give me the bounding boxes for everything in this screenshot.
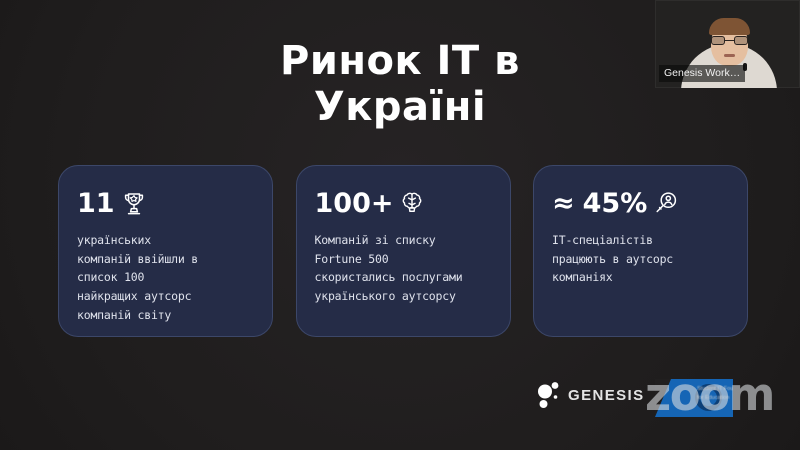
page-title-line-1: Ринок IT в: [280, 38, 520, 84]
stat-card-heading: ≈ 45%: [552, 188, 729, 218]
page-title-line-2: Україні: [0, 84, 800, 130]
stat-card-list: 11 українських компаній ввійшли в список…: [58, 165, 748, 337]
stat-card-description: Компаній зі списку Fortune 500 скористал…: [315, 231, 492, 306]
zoom-watermark: zoom: [645, 372, 774, 417]
presentation-slide: Ринок IT в Україні 11: [0, 0, 800, 450]
genesis-wordmark: GENESIS: [568, 387, 645, 404]
trophy-icon: [120, 189, 148, 217]
slide-footer: GENESIS Student IT Foundation for Educat…: [0, 378, 800, 422]
brain-icon: [398, 189, 426, 217]
stat-value: 11: [77, 190, 115, 217]
stat-card-companies-top100: 11 українських компаній ввійшли в список…: [58, 165, 273, 337]
stat-value: 100+: [315, 190, 394, 217]
stat-card-heading: 100+: [315, 188, 492, 218]
stat-card-description: українських компаній ввійшли в список 10…: [77, 231, 254, 324]
stat-value: 45%: [583, 190, 648, 217]
stat-card-fortune500: 100+ Компаній зі списку Fortun: [296, 165, 511, 337]
stat-card-specialists-share: ≈ 45% IT-спеціалістів працюють в аутсорс…: [533, 165, 748, 337]
stat-card-description: IT-спеціалістів працюють в аутсорс компа…: [552, 231, 729, 287]
user-search-icon: [652, 189, 680, 217]
approx-symbol: ≈: [552, 190, 575, 217]
video-tile-border: [655, 0, 800, 88]
genesis-logo: GENESIS: [536, 380, 645, 410]
stat-card-heading: 11: [77, 188, 254, 218]
genesis-logo-mark: [536, 380, 562, 410]
video-participant-tile[interactable]: Genesis Work…: [655, 0, 800, 88]
